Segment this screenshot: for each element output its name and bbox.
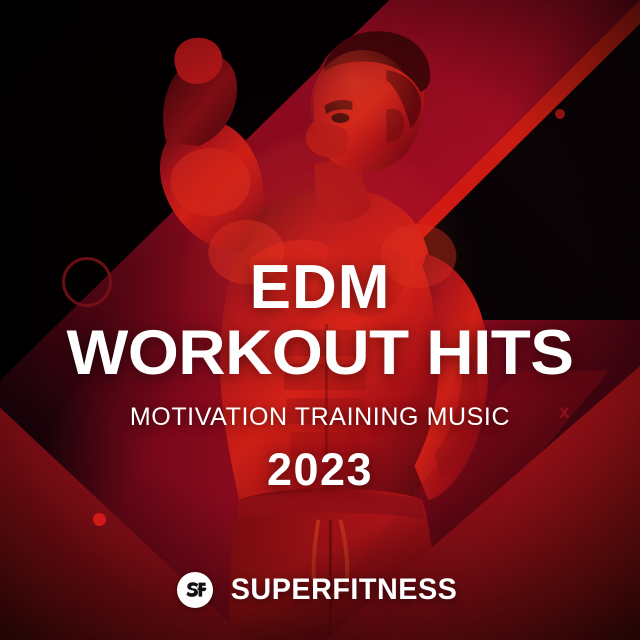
subtitle: MOTIVATION TRAINING MUSIC [0, 403, 640, 432]
decorative-dot-top-right [555, 109, 565, 119]
title-line-1: EDM [0, 258, 640, 319]
decorative-dot-bottom-left [93, 513, 106, 526]
album-cover: x EDM WORKOUT HITS MOTIVATION TRAINING M… [0, 0, 640, 640]
title-block: EDM WORKOUT HITS MOTIVATION TRAINING MUS… [0, 258, 640, 496]
title-line-2: WORKOUT HITS [0, 321, 640, 385]
label-wordmark: SUPERFITNESS [231, 573, 458, 607]
year-label: 2023 [0, 444, 640, 496]
label-logo: SUPERFITNESS [0, 572, 640, 608]
sf-badge-icon [177, 572, 213, 608]
